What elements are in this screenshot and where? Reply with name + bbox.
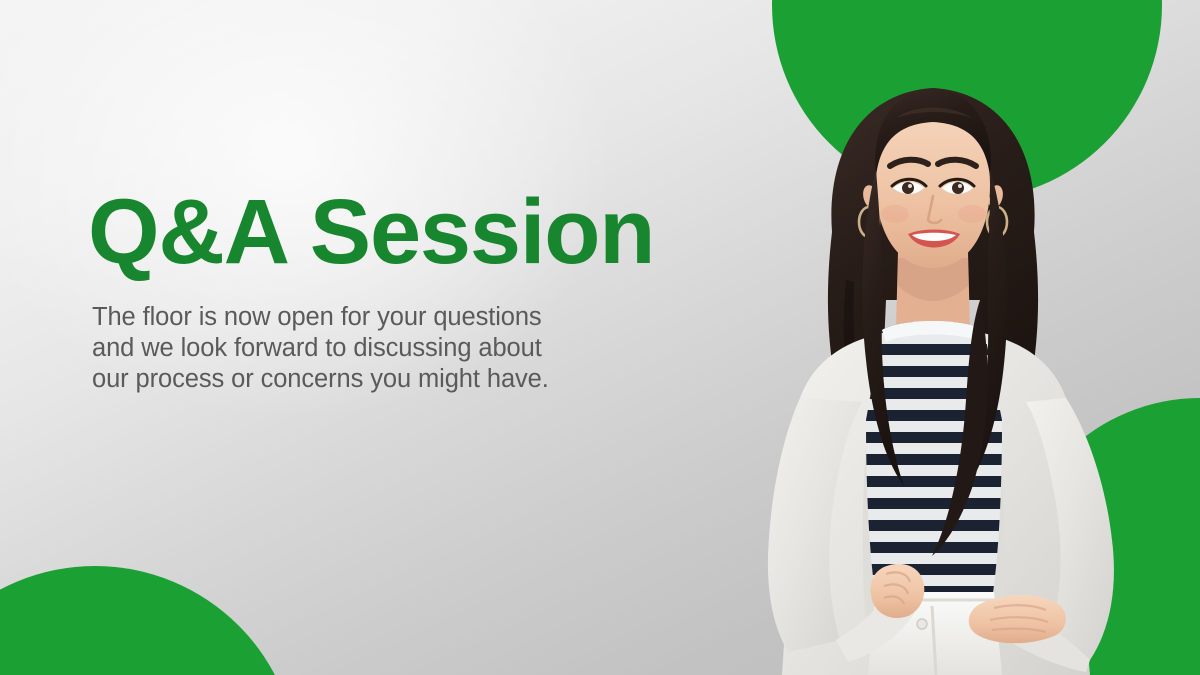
slide-canvas: Q&A Session The floor is now open for yo… bbox=[0, 0, 1200, 675]
text-block: Q&A Session The floor is now open for yo… bbox=[88, 186, 728, 395]
page-title: Q&A Session bbox=[88, 186, 728, 278]
presenter-figure bbox=[650, 0, 1200, 675]
green-circle-bottom-left-icon bbox=[0, 566, 298, 675]
page-subtitle: The floor is now open for your questions… bbox=[92, 302, 728, 395]
